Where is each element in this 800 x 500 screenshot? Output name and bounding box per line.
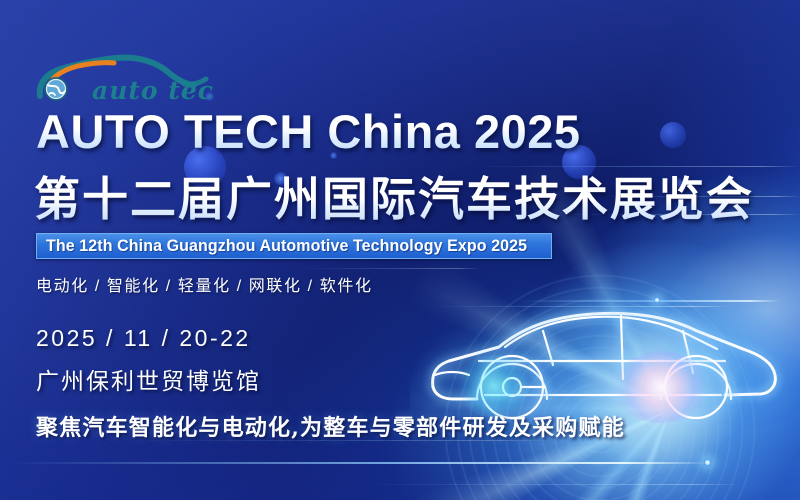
event-poster: auto tech AUTO TECH China 2025 第十二届广州国际汽… — [0, 0, 800, 500]
page-title-english: AUTO TECH China 2025 — [36, 108, 581, 155]
subtitle-band: The 12th China Guangzhou Automotive Tech… — [36, 233, 552, 259]
subtitle-english: The 12th China Guangzhou Automotive Tech… — [46, 237, 527, 256]
event-tagline: 聚焦汽车智能化与电动化,为整车与零部件研发及采购赋能 — [36, 410, 625, 442]
event-venue: 广州保利世贸博览馆 — [36, 362, 261, 396]
event-date: 2025 / 11 / 20-22 — [36, 325, 251, 352]
poster-text-content: AUTO TECH China 2025 第十二届广州国际汽车技术展览会 The… — [0, 0, 800, 500]
page-title-chinese: 第十二届广州国际汽车技术展览会 — [34, 175, 754, 223]
keywords-line: 电动化 / 智能化 / 轻量化 / 网联化 / 软件化 — [36, 272, 373, 296]
